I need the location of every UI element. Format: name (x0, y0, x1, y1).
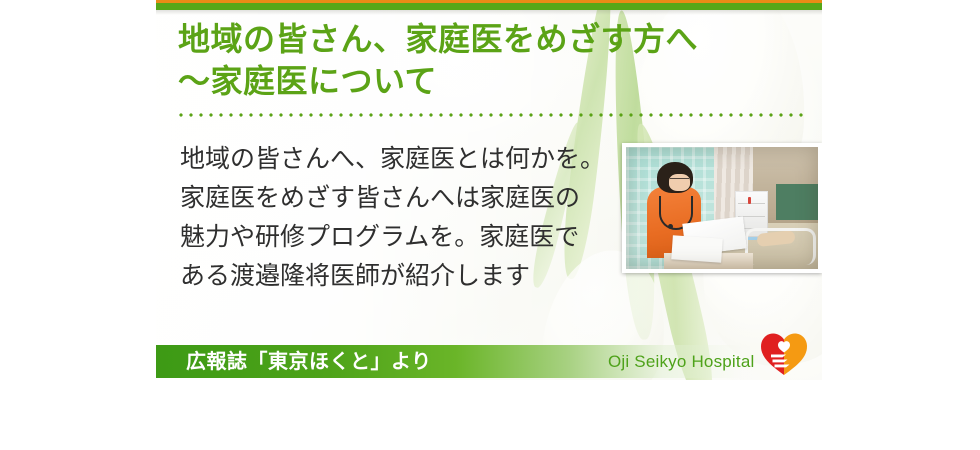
top-rule-shadow (156, 10, 822, 15)
hospital-name: Oji Seikyo Hospital (608, 352, 754, 372)
article-photo[interactable] (622, 143, 822, 273)
top-rule-accent (156, 0, 822, 3)
source-label: 広報誌「東京ほくと」より (186, 350, 432, 374)
page-title: 地域の皆さん、家庭医をめざす方へ ～家庭医について (178, 18, 778, 102)
dotted-divider (176, 113, 806, 117)
promo-banner[interactable]: 地域の皆さん、家庭医をめざす方へ ～家庭医について 地域の皆さんへ、家庭医とは何… (156, 0, 822, 380)
photo-image (626, 147, 818, 269)
photo-vignette (626, 147, 818, 269)
body-text: 地域の皆さんへ、家庭医とは何かを。 家庭医をめざす皆さんへは家庭医の 魅力や研修… (180, 140, 650, 296)
heart-logo-icon (760, 332, 808, 376)
banner-canvas: 地域の皆さん、家庭医をめざす方へ ～家庭医について 地域の皆さんへ、家庭医とは何… (0, 0, 980, 450)
top-rule (156, 0, 822, 10)
